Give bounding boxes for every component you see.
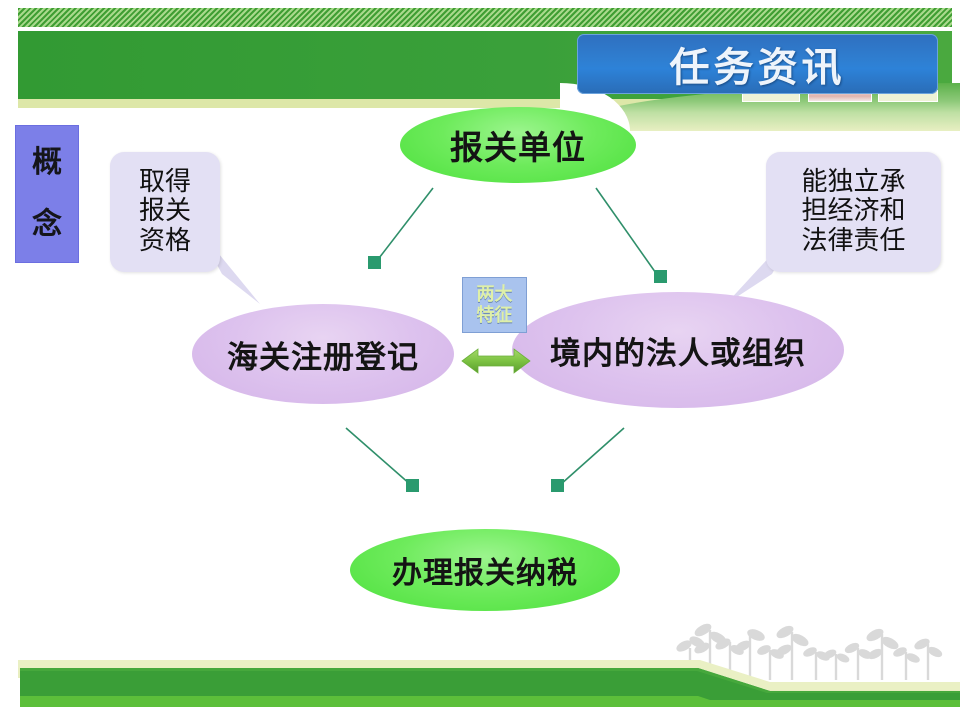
connector-top-to-left xyxy=(376,188,433,262)
callout-right-line-2: 担经济和 xyxy=(801,197,905,227)
node-right-label: 境内的法人或组织 xyxy=(550,328,806,373)
center-label-line-2: 特征 xyxy=(477,305,513,326)
callout-left-line-3: 资格 xyxy=(139,227,191,257)
callout-right: 能独立承 担经济和 法律责任 xyxy=(766,152,941,272)
callout-right-line-1: 能独立承 xyxy=(801,168,905,198)
section-tag-concept: 概 念 xyxy=(16,126,78,262)
callout-left-line-1: 取得 xyxy=(139,168,191,198)
node-left-customs-registration: 海关注册登记 xyxy=(192,304,454,404)
page-title: 任务资讯 xyxy=(670,35,846,93)
footer-bar xyxy=(10,660,960,708)
header-hatch-strip xyxy=(18,8,952,27)
connector-marker-top-left xyxy=(368,256,381,269)
node-top-declaration-unit: 报关单位 xyxy=(400,107,636,183)
connector-marker-bottom-right xyxy=(551,479,564,492)
callout-left: 取得 报关 资格 xyxy=(110,152,220,272)
section-tag-char-1: 概 xyxy=(32,148,62,178)
slide-title-bar: 任务资讯 xyxy=(577,34,938,94)
center-label-two-features: 两大 特征 xyxy=(462,277,527,333)
section-tag-char-2: 念 xyxy=(32,210,62,240)
node-right-domestic-legal-entity: 境内的法人或组织 xyxy=(512,292,844,408)
callout-right-line-3: 法律责任 xyxy=(801,227,905,257)
double-arrow-icon xyxy=(460,346,532,376)
callout-left-line-2: 报关 xyxy=(139,197,191,227)
slide-canvas: 任务资讯 概 念 取得 报关 资格 xyxy=(0,0,960,720)
connector-marker-bottom-left xyxy=(406,479,419,492)
node-left-label: 海关注册登记 xyxy=(227,332,419,377)
center-label-line-1: 两大 xyxy=(477,284,513,305)
connector-left-to-bottom xyxy=(346,428,411,485)
node-bottom-label: 办理报关纳税 xyxy=(392,548,578,592)
node-bottom-customs-declaration-tax: 办理报关纳税 xyxy=(350,529,620,611)
connector-right-to-bottom xyxy=(560,428,624,485)
node-top-label: 报关单位 xyxy=(450,121,586,169)
connector-marker-top-right xyxy=(654,270,667,283)
connector-top-to-right xyxy=(596,188,658,276)
